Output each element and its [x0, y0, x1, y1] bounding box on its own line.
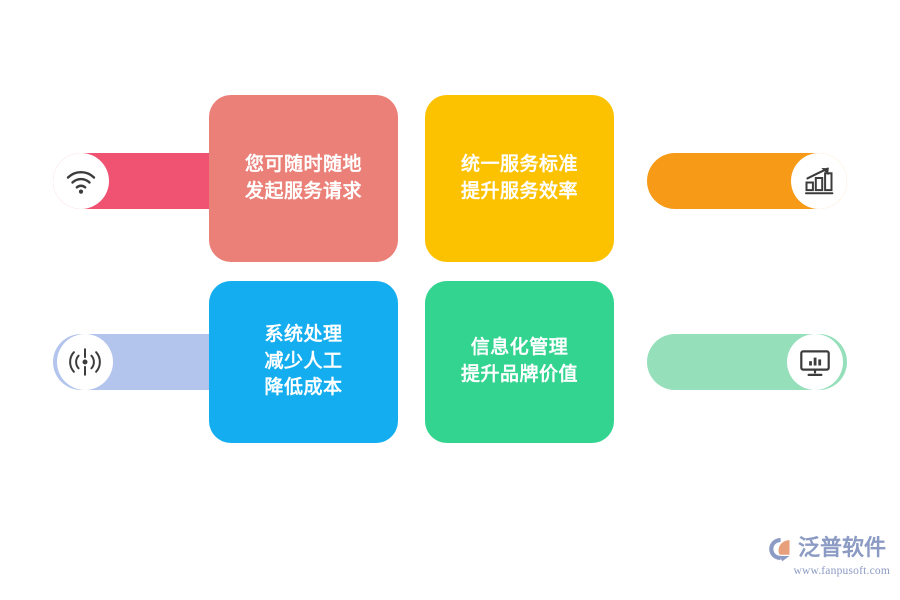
- feature-card-top-right[interactable]: 统一服务标准 提升服务效率: [425, 95, 614, 262]
- feature-card-bottom-right-text: 信息化管理 提升品牌价值: [461, 335, 578, 389]
- feature-card-top-left[interactable]: 您可随时随地 发起服务请求: [209, 95, 398, 262]
- monitor-chart-icon: [798, 345, 832, 379]
- feature-card-bottom-left[interactable]: 系统处理 减少人工 降低成本: [209, 281, 398, 443]
- wifi-icon: [64, 164, 98, 198]
- icon-bubble-top-left[interactable]: [53, 153, 109, 209]
- broadcast-signal-icon: [68, 345, 102, 379]
- feature-card-bottom-right[interactable]: 信息化管理 提升品牌价值: [425, 281, 614, 443]
- growth-bar-chart-icon: [802, 164, 836, 198]
- feature-card-top-right-text: 统一服务标准 提升服务效率: [461, 152, 578, 206]
- icon-bubble-top-right[interactable]: [791, 153, 847, 209]
- brand-logo-row: 泛普软件: [768, 534, 890, 564]
- icon-bubble-bottom-left[interactable]: [57, 334, 113, 390]
- feature-card-bottom-left-text: 系统处理 减少人工 降低成本: [264, 322, 342, 403]
- brand-url: www.fanpusoft.com: [768, 565, 890, 577]
- icon-bubble-bottom-right[interactable]: [787, 334, 843, 390]
- feature-card-top-left-text: 您可随时随地 发起服务请求: [245, 152, 362, 206]
- infographic-canvas: 您可随时随地 发起服务请求 统一服务标准 提升服务效率: [0, 0, 900, 600]
- brand-watermark: 泛普软件 www.fanpusoft.com: [768, 534, 890, 584]
- brand-name: 泛普软件: [798, 538, 886, 560]
- fanpu-logo-mark-icon: [768, 536, 794, 562]
